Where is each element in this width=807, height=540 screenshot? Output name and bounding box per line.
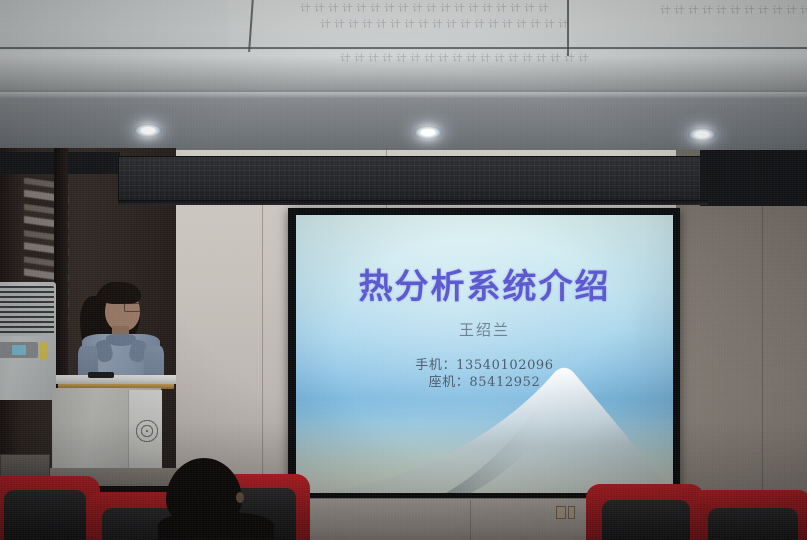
right-wall-seam — [762, 190, 763, 490]
ceiling-panel-left — [0, 0, 230, 54]
ceiling-grid-vertical-right — [567, 0, 569, 56]
air-conditioner-display — [12, 345, 26, 355]
air-conditioner-control-panel[interactable] — [0, 342, 38, 358]
wall-below-screen-seam — [470, 500, 471, 540]
downlight-center-icon — [414, 126, 442, 139]
seat-row-second-1[interactable] — [0, 476, 100, 540]
audience-member-ear — [236, 492, 244, 503]
right-wall — [676, 150, 807, 540]
wall-power-outlet[interactable] — [556, 506, 566, 519]
slide-author: 王绍兰 — [296, 319, 673, 340]
downlight-right-icon — [688, 128, 716, 141]
valance-beam-shadow — [118, 200, 708, 205]
ceiling-grid-horizontal — [0, 47, 807, 49]
air-conditioner-badge — [40, 342, 47, 360]
presenter-eyeglasses — [124, 303, 141, 312]
seat-row-front-2[interactable] — [586, 484, 704, 540]
valance-beam-right — [700, 150, 807, 206]
desk-microphone[interactable] — [88, 372, 114, 378]
presenter-hair-top — [101, 282, 141, 304]
screen-vignette — [296, 215, 673, 493]
scene-root: 计计计计计计计计计计计计计计计计计计 计计计计计计计计计计计计计计计计计计 计计… — [0, 0, 807, 540]
ceiling-pattern-row-4: 计计计计计计计计计计计计计计计计计计 — [660, 5, 807, 19]
podium-speaker-grille — [134, 418, 160, 444]
podium-ledge — [56, 375, 176, 384]
ceiling: 计计计计计计计计计计计计计计计计计计 计计计计计计计计计计计计计计计计计计 计计… — [0, 0, 807, 98]
slide-contact-mobile: 手机：13540102096 — [296, 357, 673, 374]
downlight-left-icon — [134, 124, 162, 137]
back-wall-seam-2 — [262, 190, 263, 490]
wall-power-outlet-secondary[interactable] — [568, 506, 575, 519]
valance-beam-face — [118, 156, 708, 202]
air-conditioner[interactable] — [0, 282, 56, 400]
screen-glow — [296, 215, 673, 493]
air-conditioner-louvers — [0, 286, 54, 336]
ceiling-pattern-row-2: 计计计计计计计计计计计计计计计计计计 — [320, 19, 650, 33]
ceiling-pattern-row-1: 计计计计计计计计计计计计计计计计计计 — [300, 3, 630, 17]
slide-contact-landline: 座机：85412952 — [296, 374, 673, 391]
seat-row-front-3[interactable] — [690, 490, 807, 540]
projection-screen[interactable]: 热分析系统介绍 王绍兰 手机：13540102096 座机：85412952 — [296, 215, 673, 493]
soffit-edge — [0, 92, 807, 98]
slide-title: 热分析系统介绍 — [296, 259, 673, 308]
